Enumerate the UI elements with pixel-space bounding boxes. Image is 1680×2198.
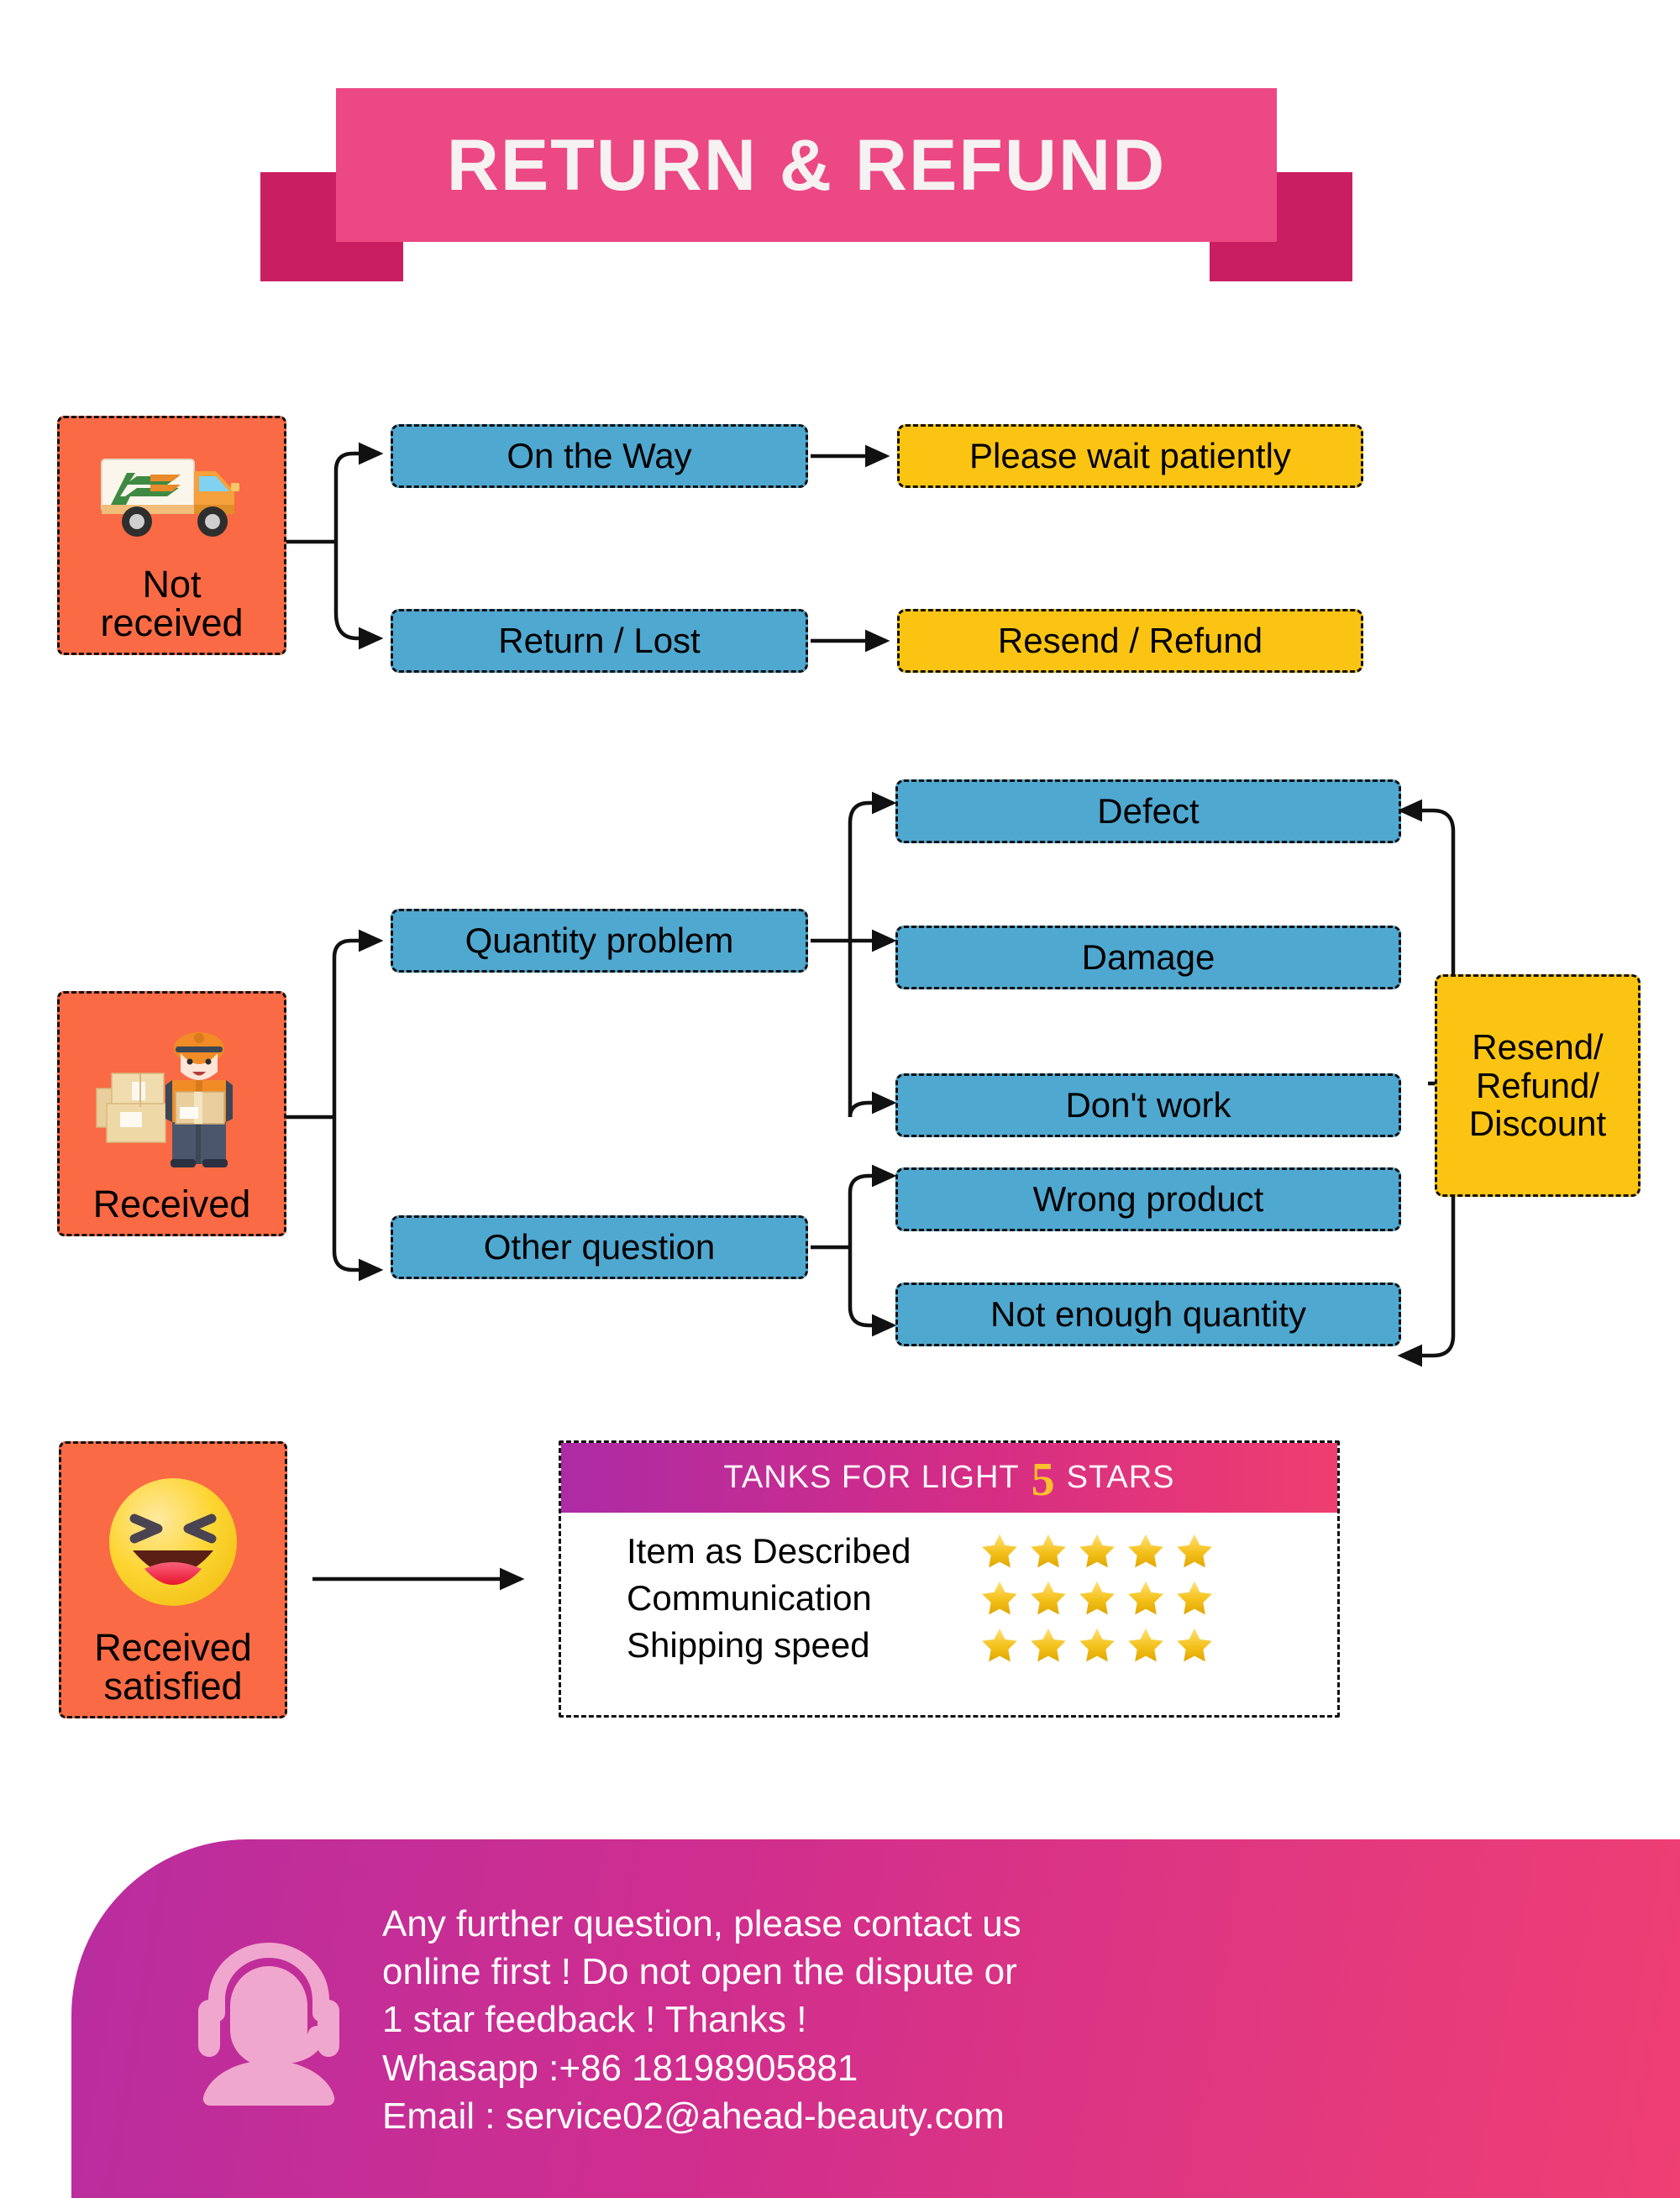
contact-footer: Any further question, please contact us …: [71, 1839, 1680, 2198]
received-satisfied-line1: Received: [61, 1629, 285, 1667]
star-rating-shipping-speed: [979, 1625, 1215, 1666]
star-icon: [979, 1625, 1020, 1666]
star-icon: [1174, 1531, 1215, 1571]
resend-refund-label: Resend / Refund: [998, 621, 1263, 661]
resolution-line2: Refund/: [1476, 1067, 1599, 1104]
star-icon: [1077, 1625, 1117, 1666]
contact-text: Any further question, please contact us …: [374, 1900, 1021, 2140]
resolution-line1: Resend/: [1472, 1028, 1603, 1066]
node-wrong-product[interactable]: Wrong product: [895, 1167, 1401, 1231]
arrow-to-wrongproduct: [850, 1176, 893, 1193]
contact-line-2: online first ! Do not open the dispute o…: [382, 1948, 1021, 1996]
arrow-to-other-question: [334, 1251, 380, 1270]
node-on-the-way[interactable]: On the Way: [391, 424, 808, 488]
feedback-header-number: 5: [1032, 1456, 1055, 1503]
node-received-satisfied[interactable]: Received satisfied: [59, 1441, 287, 1718]
star-icon: [1028, 1531, 1068, 1571]
other-question-label: Other question: [484, 1227, 716, 1267]
quantity-problem-label: Quantity problem: [465, 921, 734, 961]
feedback-row: Communication: [627, 1578, 1337, 1618]
contact-line-1: Any further question, please contact us: [382, 1900, 1021, 1948]
arrow-to-dontwork: [850, 1103, 893, 1117]
laughing-emoji-icon: [61, 1456, 285, 1629]
arrow-resolution-to-defect: [1401, 810, 1453, 831]
arrow-to-ontheway: [336, 454, 380, 470]
page-title: RETURN & REFUND: [447, 129, 1167, 202]
star-icon: [1126, 1625, 1166, 1666]
node-received[interactable]: Received: [57, 991, 286, 1236]
damage-label: Damage: [1082, 937, 1215, 978]
arrow-to-quantity-problem: [334, 941, 380, 957]
not-received-line1: Not: [60, 565, 284, 604]
node-damage[interactable]: Damage: [895, 926, 1401, 989]
received-satisfied-line2: satisfied: [61, 1667, 285, 1706]
star-icon: [1077, 1578, 1117, 1618]
title-ribbon: RETURN & REFUND: [260, 88, 1352, 298]
contact-whatsapp[interactable]: Whasapp :+86 18198905881: [382, 2044, 1021, 2092]
defect-label: Defect: [1097, 791, 1199, 831]
node-defect[interactable]: Defect: [895, 779, 1401, 843]
on-the-way-label: On the Way: [507, 436, 691, 476]
arrow-to-notenough: [850, 1307, 893, 1325]
contact-line-3: 1 star feedback ! Thanks !: [382, 1996, 1021, 2043]
resolution-line3: Discount: [1469, 1104, 1606, 1142]
node-quantity-problem[interactable]: Quantity problem: [391, 909, 808, 973]
please-wait-label: Please wait patiently: [969, 436, 1291, 476]
star-icon: [1174, 1578, 1215, 1618]
received-label: Received: [60, 1185, 284, 1224]
infographic-page: RETURN & REFUND: [0, 0, 1680, 2198]
node-received-label: Received: [60, 1185, 284, 1234]
feedback-row: Shipping speed: [627, 1625, 1337, 1666]
star-icon: [1028, 1625, 1068, 1666]
star-rating-item-as-described: [979, 1531, 1215, 1571]
feedback-rows: Item as Described Communication: [561, 1513, 1337, 1666]
node-other-question[interactable]: Other question: [391, 1215, 808, 1279]
star-icon: [1028, 1578, 1068, 1618]
arrow-to-defect: [850, 803, 893, 823]
wrong-product-label: Wrong product: [1033, 1179, 1264, 1220]
feedback-row: Item as Described: [627, 1531, 1337, 1571]
dont-work-label: Don't work: [1065, 1085, 1231, 1125]
not-enough-quantity-label: Not enough quantity: [990, 1294, 1306, 1335]
feedback-card: TANKS FOR LIGHT 5 STARS Item as Describe…: [559, 1440, 1340, 1718]
feedback-header-pre: TANKS FOR LIGHT: [724, 1460, 1020, 1496]
feedback-row-label-communication: Communication: [627, 1578, 979, 1618]
star-rating-communication: [979, 1578, 1215, 1618]
star-icon: [1077, 1531, 1117, 1571]
ribbon-body: RETURN & REFUND: [336, 88, 1277, 242]
star-icon: [979, 1578, 1020, 1618]
node-dont-work[interactable]: Don't work: [895, 1073, 1401, 1137]
not-received-line2: received: [60, 604, 284, 643]
node-return-lost[interactable]: Return / Lost: [391, 609, 808, 673]
node-resend-refund[interactable]: Resend / Refund: [897, 609, 1363, 673]
star-icon: [979, 1531, 1020, 1571]
node-not-enough-quantity[interactable]: Not enough quantity: [895, 1283, 1401, 1346]
star-icon: [1126, 1531, 1166, 1571]
contact-email[interactable]: Email : service02@ahead-beauty.com: [382, 2092, 1021, 2140]
feedback-card-header: TANKS FOR LIGHT 5 STARS: [561, 1443, 1337, 1513]
arrow-resolution-to-notenough: [1401, 1335, 1453, 1356]
arrow-to-returnlost: [336, 613, 380, 638]
return-lost-label: Return / Lost: [498, 621, 700, 661]
node-please-wait[interactable]: Please wait patiently: [897, 424, 1363, 488]
feedback-row-label-item-as-described: Item as Described: [627, 1531, 979, 1571]
node-received-satisfied-label: Received satisfied: [61, 1629, 285, 1716]
delivery-person-with-parcels-icon: [60, 1005, 284, 1185]
node-not-received[interactable]: Not received: [57, 416, 286, 655]
feedback-row-label-shipping-speed: Shipping speed: [627, 1625, 979, 1666]
node-resolution[interactable]: Resend/ Refund/ Discount: [1435, 974, 1641, 1197]
feedback-header-post: STARS: [1067, 1460, 1175, 1496]
customer-support-headset-icon: [71, 1919, 374, 2121]
star-icon: [1126, 1578, 1166, 1618]
node-not-received-label: Not received: [60, 565, 284, 653]
star-icon: [1174, 1625, 1215, 1666]
delivery-truck-icon: [60, 430, 284, 565]
